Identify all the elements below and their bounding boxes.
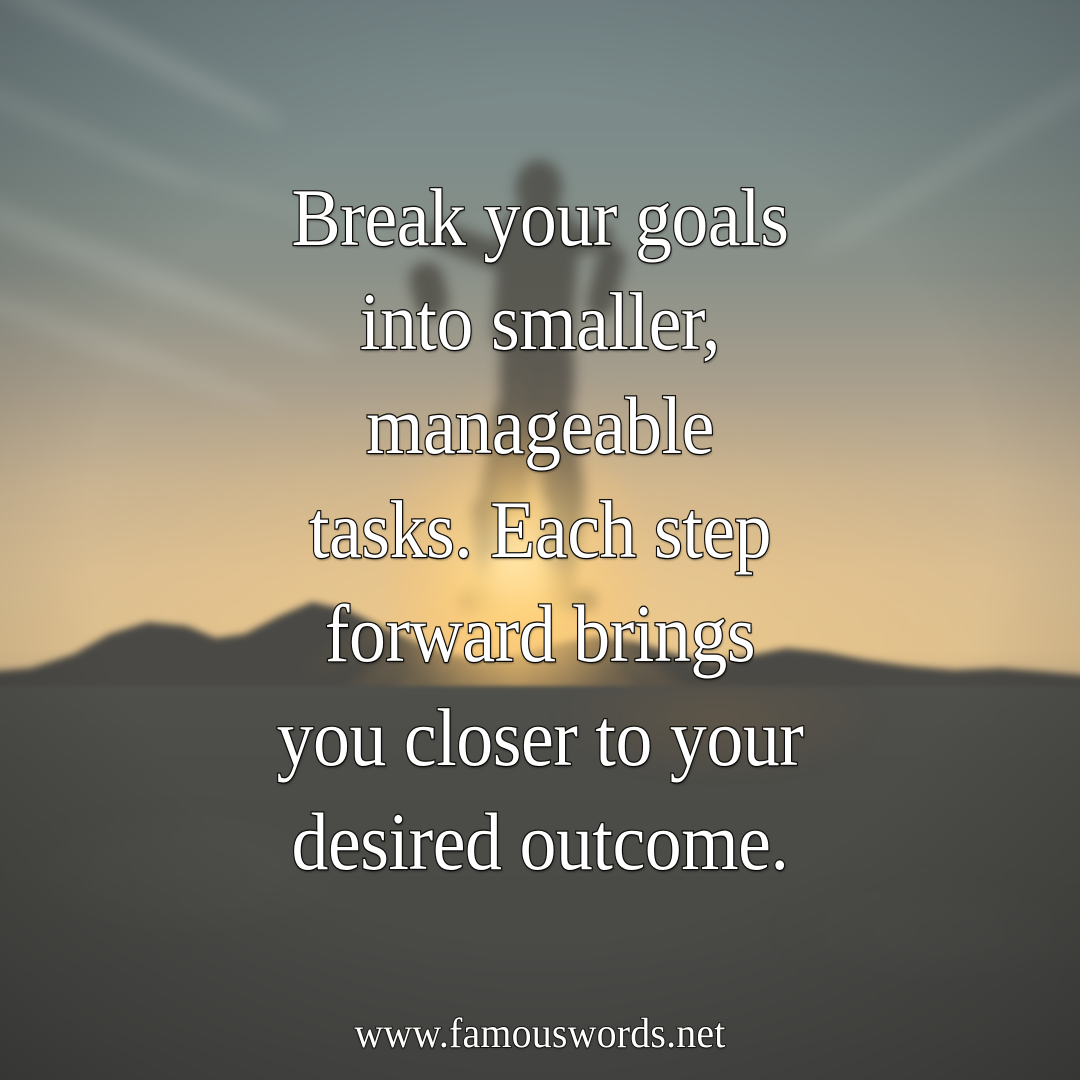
quote-line: into smaller,	[54, 270, 1026, 374]
quote-line: forward brings	[54, 582, 1026, 686]
quote-line: desired outcome.	[54, 790, 1026, 894]
quote-text-block: Break your goals into smaller, manageabl…	[0, 166, 1080, 894]
quote-line: tasks. Each step	[54, 478, 1026, 582]
quote-line: you closer to your	[54, 686, 1026, 790]
quote-line: manageable	[54, 374, 1026, 478]
website-watermark: www.famouswords.net	[27, 1008, 1053, 1060]
quote-image-canvas: Break your goals into smaller, manageabl…	[0, 0, 1080, 1080]
quote-line: Break your goals	[54, 166, 1026, 270]
